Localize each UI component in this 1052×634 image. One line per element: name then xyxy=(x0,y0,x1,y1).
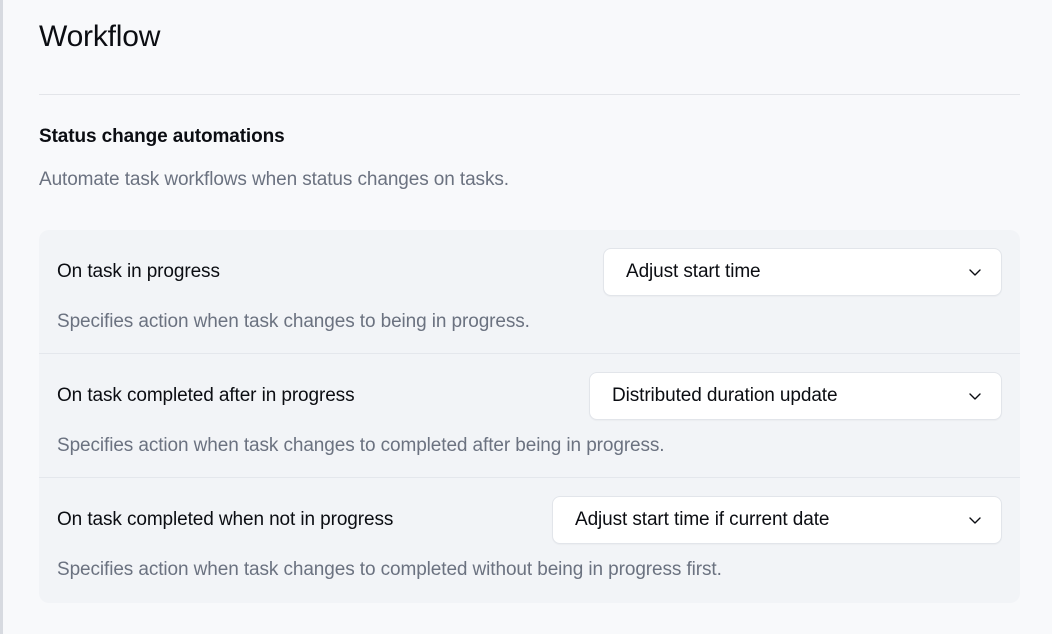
select-value: Adjust start time if current date xyxy=(575,509,829,531)
header-divider xyxy=(39,94,1020,95)
section-heading: Status change automations xyxy=(39,124,285,150)
chevron-down-icon xyxy=(965,386,985,406)
automation-description: Specifies action when task changes to be… xyxy=(39,296,1020,353)
workflow-settings-page: Workflow Status change automations Autom… xyxy=(3,0,1052,634)
select-value: Adjust start time xyxy=(626,261,761,283)
select-value: Distributed duration update xyxy=(612,385,837,407)
automation-row: On task in progress Adjust start time Sp… xyxy=(39,230,1020,353)
on-task-completed-when-not-in-progress-select[interactable]: Adjust start time if current date xyxy=(552,496,1002,544)
section-description: Automate task workflows when status chan… xyxy=(39,167,509,193)
automation-description: Specifies action when task changes to co… xyxy=(39,544,1020,601)
chevron-down-icon xyxy=(965,510,985,530)
automation-row-header: On task in progress Adjust start time xyxy=(39,230,1020,296)
page-title: Workflow xyxy=(39,17,160,57)
automation-row-header: On task completed after in progress Dist… xyxy=(39,354,1020,420)
automation-label: On task completed when not in progress xyxy=(57,509,393,531)
on-task-completed-after-in-progress-select[interactable]: Distributed duration update xyxy=(589,372,1002,420)
chevron-down-icon xyxy=(965,262,985,282)
automation-row: On task completed after in progress Dist… xyxy=(39,353,1020,477)
automation-label: On task in progress xyxy=(57,261,220,283)
automation-description: Specifies action when task changes to co… xyxy=(39,420,1020,477)
automation-row: On task completed when not in progress A… xyxy=(39,477,1020,601)
automation-row-header: On task completed when not in progress A… xyxy=(39,478,1020,544)
on-task-in-progress-select[interactable]: Adjust start time xyxy=(603,248,1002,296)
status-change-automations-card: On task in progress Adjust start time Sp… xyxy=(39,230,1020,603)
automation-label: On task completed after in progress xyxy=(57,385,354,407)
